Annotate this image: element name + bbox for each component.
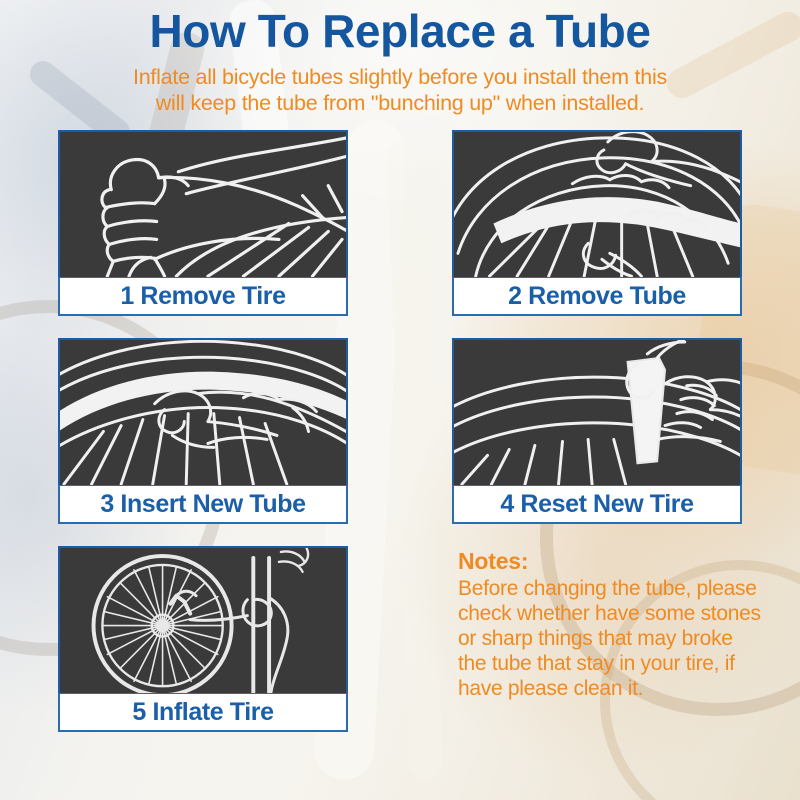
step-illustration-5 [58, 546, 348, 692]
notes-line-3: or sharp things that may broke [458, 627, 742, 652]
subtitle-line-1: Inflate all bicycle tubes slightly befor… [24, 64, 776, 90]
step-card-4: 4 Reset New Tire [452, 338, 742, 524]
notes-body: Before changing the tube, please check w… [458, 577, 742, 702]
poster-header: How To Replace a Tube Inflate all bicycl… [0, 0, 800, 116]
step-caption-3: 3 Insert New Tube [58, 485, 348, 525]
step-illustration-1 [58, 130, 348, 276]
notes-block: Notes: Before changing the tube, please … [452, 546, 742, 732]
step-illustration-4 [452, 338, 742, 484]
subtitle-line-2: will keep the tube from "bunching up" wh… [24, 90, 776, 116]
steps-grid: 1 Remove Tire [0, 130, 800, 732]
step-card-2: 2 Remove Tube [452, 130, 742, 316]
step-caption-2: 2 Remove Tube [452, 277, 742, 317]
page-title: How To Replace a Tube [0, 8, 800, 54]
notes-title: Notes: [458, 548, 742, 575]
step-caption-4: 4 Reset New Tire [452, 485, 742, 525]
step-card-5: 5 Inflate Tire [58, 546, 348, 732]
step-illustration-3 [58, 338, 348, 484]
step-card-1: 1 Remove Tire [58, 130, 348, 316]
notes-line-1: Before changing the tube, please [458, 577, 742, 602]
notes-line-2: check whether have some stones [458, 602, 742, 627]
step-illustration-2 [452, 130, 742, 276]
step-card-3: 3 Insert New Tube [58, 338, 348, 524]
infographic-poster: How To Replace a Tube Inflate all bicycl… [0, 0, 800, 800]
page-subtitle: Inflate all bicycle tubes slightly befor… [0, 64, 800, 116]
notes-line-4: the tube that stay in your tire, if [458, 652, 742, 677]
notes-line-5: have please clean it. [458, 677, 742, 702]
step-caption-5: 5 Inflate Tire [58, 693, 348, 733]
step-caption-1: 1 Remove Tire [58, 277, 348, 317]
